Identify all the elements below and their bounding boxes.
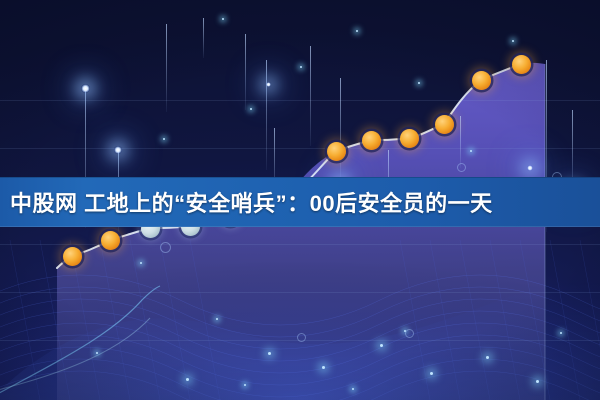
sparkle [300,66,302,68]
headline-band: 中股网 工地上的“安全哨兵”：00后安全员的一天 [0,177,600,227]
grid-line [0,244,600,245]
ring-marker [297,333,306,342]
sparkle [470,150,472,152]
sparkle [560,332,562,334]
chart-point-marker [327,142,346,161]
glow-dot [81,84,90,93]
ring-marker [160,242,171,253]
ring-marker [457,163,466,172]
sparkle [186,378,189,381]
chart-point-marker [400,129,419,148]
grid-line [0,148,600,149]
chart-point-marker [101,231,120,250]
banner-image: 中股网 工地上的“安全哨兵”：00后安全员的一天 [0,0,600,400]
chart-point-marker [512,55,531,74]
sparkle [322,366,325,369]
chart-point-marker [435,115,454,134]
sparkle [216,318,218,320]
light-beam [203,18,204,58]
sparkle [268,352,271,355]
light-beam [245,34,246,110]
light-beam [310,46,311,146]
light-beam [460,116,461,168]
chart-point-marker [362,131,381,150]
light-beam [166,24,167,112]
sparkle [418,82,420,84]
grid-line [0,292,600,293]
sparkle [222,18,224,20]
grid-line [0,100,600,101]
glow-dot [266,82,271,87]
light-beam [340,78,341,182]
glow-dot [114,146,122,154]
chart-point-marker [63,247,82,266]
sparkle [430,372,433,375]
sparkle [380,344,383,347]
chart-point-marker [472,71,491,90]
headline-text: 中股网 工地上的“安全哨兵”：00后安全员的一天 [10,186,493,218]
sparkle [356,30,358,32]
sparkle [244,384,246,386]
sparkle [352,388,354,390]
light-beam [266,60,267,170]
sparkle [250,108,252,110]
sparkle [96,352,98,354]
sparkle [536,380,539,383]
sparkle [512,40,514,42]
ring-marker [405,329,414,338]
sparkle [163,138,165,140]
glow-dot [527,165,533,171]
sparkle [486,356,489,359]
sparkle [140,262,142,264]
